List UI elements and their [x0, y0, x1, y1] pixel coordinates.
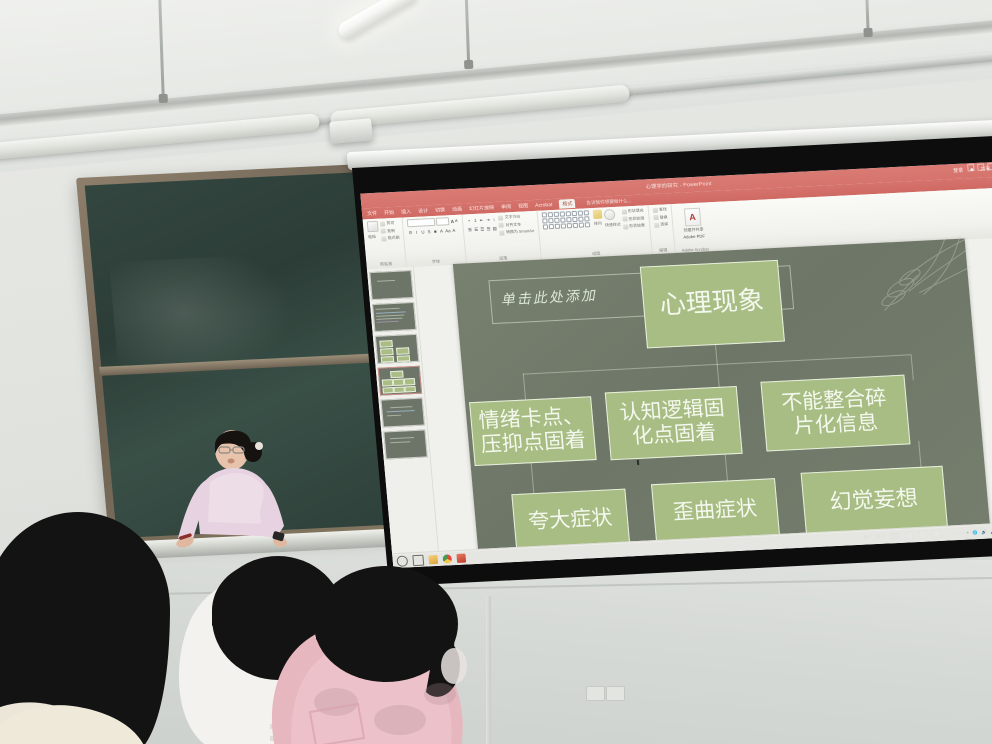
powerpoint-window: 心理学的研究 - PowerPoint 登录 ☻ 共享 文件 开始 — [360, 162, 992, 568]
align-center-icon[interactable]: ☰ — [473, 226, 479, 232]
shape-pentagon-icon — [560, 217, 566, 222]
create-share-pdf-button[interactable]: A 创建并共享 Adobe PDF — [676, 204, 711, 239]
tab-file[interactable]: 文件 — [367, 210, 378, 217]
connector-mid-down — [724, 451, 728, 485]
paste-label[interactable]: 粘贴 — [368, 233, 380, 240]
wall-socket — [606, 686, 625, 701]
shape-callout-icon — [555, 224, 561, 229]
placeholder-text: 单击此处添加 — [500, 285, 598, 310]
adobe-pdf-icon: A — [684, 208, 702, 227]
shape-outline-item[interactable]: 形状轮廓 — [622, 215, 645, 222]
classroom-photo: 心理学的研究 - PowerPoint 登录 ☻ 共享 文件 开始 — [0, 0, 992, 744]
shape-line-icon — [542, 212, 548, 217]
node-root-label: 心理现象 — [659, 287, 766, 321]
wall-socket — [586, 686, 605, 701]
smartart-item[interactable]: 转换为 SmartArt — [499, 228, 534, 236]
line-spacing-icon[interactable]: ↕ — [491, 216, 497, 222]
shape-moon-icon — [585, 222, 591, 227]
text-shadow-icon[interactable]: ■ — [433, 229, 438, 234]
tab-review[interactable]: 审阅 — [501, 203, 512, 210]
slide-thumbnail[interactable] — [383, 429, 427, 459]
decorative-branch-graphic — [848, 232, 976, 334]
mouse-cursor — [636, 460, 638, 465]
network-icon[interactable]: 🌐 — [972, 530, 977, 535]
align-text-item[interactable]: 对齐文本 — [499, 221, 534, 229]
arrange-label[interactable]: 排列 — [594, 220, 604, 226]
tab-home[interactable]: 开始 — [384, 209, 395, 216]
increase-indent-icon[interactable]: ⇥ — [485, 217, 491, 223]
acrobat-button-line1: 创建并共享 — [683, 227, 704, 234]
find-item[interactable]: 查找 — [652, 206, 667, 213]
node-bottom-3-label: 幻觉妄想 — [829, 487, 919, 516]
student-right — [240, 562, 500, 744]
quick-styles-icon[interactable] — [604, 209, 616, 221]
search-icon — [652, 207, 657, 212]
connector-vertical-root — [714, 343, 717, 365]
slide-thumbnail-current[interactable] — [378, 366, 422, 396]
underline-icon[interactable]: U — [420, 229, 425, 234]
student-front-left — [0, 690, 160, 744]
shape-brace-icon — [578, 217, 584, 222]
copy-icon — [380, 228, 385, 233]
window-title: 心理学的研究 - PowerPoint — [645, 180, 712, 190]
italic-icon[interactable]: I — [414, 230, 419, 235]
tab-format[interactable]: 格式 — [559, 199, 576, 209]
node-bottom-2-label: 歪曲症状 — [672, 497, 758, 525]
shape-curve-icon — [542, 218, 548, 223]
node-bottom-1-label: 夸大症状 — [527, 506, 613, 534]
justify-icon[interactable]: ☰ — [486, 226, 492, 232]
tab-transition[interactable]: 切换 — [435, 206, 446, 213]
char-spacing-icon[interactable]: A — [439, 228, 444, 233]
paragraph-row-1[interactable]: • 1 ⇤ ⇥ ↕ — [466, 216, 496, 223]
effects-icon — [623, 224, 628, 229]
node-mid-1[interactable]: 情绪卡点、压抑点固着 — [469, 396, 597, 466]
ribbon-group-clipboard[interactable]: 粘贴 剪切 复制 格式刷 剪贴板 — [363, 218, 408, 270]
shape-square-icon — [578, 211, 584, 216]
shape-heart-icon — [579, 222, 585, 227]
slide-thumbnail[interactable] — [381, 398, 425, 428]
slide-thumbnail[interactable] — [375, 334, 419, 364]
node-mid-3[interactable]: 不能整合碎片化信息 — [760, 375, 910, 452]
ribbon-group-paragraph[interactable]: • 1 ⇤ ⇥ ↕ ☰ ☰ ☰ ☰ — [462, 211, 542, 265]
numbering-icon[interactable]: 1 — [473, 217, 479, 223]
projector-unit — [329, 118, 373, 144]
tab-slideshow[interactable]: 幻灯片放映 — [469, 204, 495, 212]
change-case-icon[interactable]: Aa — [445, 228, 450, 233]
paragraph-row-2[interactable]: ☰ ☰ ☰ ☰ ▤ — [467, 225, 497, 232]
shape-diamond-icon — [566, 217, 572, 222]
tab-acrobat[interactable]: Acrobat — [535, 202, 553, 209]
shape-connector-icon — [554, 212, 560, 217]
node-mid-1-label: 情绪卡点、压抑点固着 — [478, 405, 587, 457]
arrange-icon[interactable] — [593, 210, 603, 219]
ribbon-group-font[interactable]: A A B I U S ■ A Aa — [403, 215, 467, 268]
shape-banner-icon — [561, 223, 567, 228]
columns-icon[interactable]: ▤ — [492, 225, 498, 231]
font-size-input[interactable] — [436, 217, 450, 226]
text-direction-icon — [498, 215, 503, 220]
shape-bracket-icon — [584, 216, 590, 221]
current-slide[interactable]: 单击此处添加 心理现象 情绪卡点、压抑点固着 认知逻辑固化点固着 — [452, 239, 989, 551]
ribbon-group-acrobat[interactable]: A 创建并共享 Adobe PDF Adobe Acrobat — [671, 202, 715, 254]
connector-branch-right — [910, 354, 913, 380]
fill-bucket-icon — [621, 209, 626, 214]
shape-cube-icon — [567, 223, 573, 228]
account-label[interactable]: 登录 — [953, 167, 964, 174]
node-mid-3-label: 不能整合碎片化信息 — [780, 387, 889, 439]
system-tray[interactable]: ^ 🌐 🔊 🎤 中 16:29 2025/5/15 ☐ — [966, 526, 992, 538]
projection-screen: 心理学的研究 - PowerPoint 登录 ☻ 共享 文件 开始 — [352, 136, 992, 587]
grow-font-icon[interactable]: A — [451, 218, 455, 223]
bullets-icon[interactable]: • — [466, 218, 472, 224]
shape-free-icon — [548, 218, 554, 223]
tab-insert[interactable]: 插入 — [401, 208, 412, 215]
slide-thumbnail[interactable] — [369, 270, 413, 300]
shape-plus-icon — [549, 224, 555, 229]
shape-cylinder-icon — [573, 223, 579, 228]
editor-body: 单击此处添加 心理现象 情绪卡点、压抑点固着 认知逻辑固化点固着 — [367, 238, 992, 555]
show-hidden-icons[interactable]: ^ — [967, 531, 969, 536]
font-color-icon[interactable]: A — [451, 228, 456, 233]
shape-scribble-icon — [554, 218, 560, 223]
window-controls[interactable] — [967, 163, 992, 171]
shape-effects-item[interactable]: 形状效果 — [623, 222, 646, 229]
shape-gallery[interactable] — [542, 210, 591, 229]
node-mid-2[interactable]: 认知逻辑固化点固着 — [604, 386, 742, 460]
align-left-icon[interactable]: ☰ — [467, 227, 473, 233]
tab-view[interactable]: 视图 — [518, 202, 529, 209]
close-icon[interactable] — [987, 163, 992, 170]
strikethrough-icon[interactable]: S — [426, 229, 431, 234]
maximize-icon[interactable] — [977, 164, 985, 171]
format-painter-item[interactable]: 格式刷 — [381, 235, 400, 242]
slide-thumbnail[interactable] — [372, 302, 416, 332]
font-style-row[interactable]: B I U S ■ A Aa A — [408, 228, 459, 235]
shape-rounded-icon — [566, 211, 572, 216]
copy-item[interactable]: 复制 — [380, 227, 399, 234]
bold-icon[interactable]: B — [408, 230, 413, 235]
shape-star-icon — [572, 217, 578, 222]
outline-pen-icon — [622, 216, 627, 221]
tab-design[interactable]: 设计 — [418, 207, 429, 214]
shape-arc-icon — [543, 224, 549, 229]
node-mid-2-label: 认知逻辑固化点固着 — [619, 397, 728, 449]
shape-arrow-icon — [548, 212, 554, 217]
tab-animation[interactable]: 动画 — [452, 206, 463, 213]
shrink-font-icon[interactable]: A — [455, 219, 458, 223]
align-text-icon — [499, 222, 504, 227]
connector-branch-left — [522, 374, 525, 400]
paste-icon[interactable] — [367, 221, 379, 233]
select-item[interactable]: 选择 — [654, 221, 669, 228]
connector-left-down — [530, 460, 534, 494]
select-cursor-icon — [654, 222, 659, 227]
smartart-icon — [499, 230, 504, 235]
scissors-icon — [380, 221, 385, 226]
ribbon-group-drawing[interactable]: 排列 快速样式 形状填充 形状轮廓 形状效果 — [537, 205, 652, 260]
shape-oval-icon — [572, 211, 578, 216]
shape-fill-item[interactable]: 形状填充 — [621, 208, 644, 215]
font-name-input[interactable] — [407, 218, 436, 227]
replace-item[interactable]: 替换 — [653, 214, 668, 221]
brush-icon — [381, 236, 386, 241]
shape-triangle-icon — [583, 210, 589, 215]
tell-me-box[interactable]: 告诉我你想要做什么... — [586, 198, 632, 206]
slide-canvas[interactable]: 单击此处添加 心理现象 情绪卡点、压抑点固着 认知逻辑固化点固着 — [414, 238, 992, 552]
cut-item[interactable]: 剪切 — [380, 220, 399, 227]
align-right-icon[interactable]: ☰ — [480, 226, 486, 232]
quick-styles-label[interactable]: 快速样式 — [605, 221, 621, 228]
minimize-icon[interactable] — [967, 164, 975, 171]
text-direction-item[interactable]: 文字方向 — [498, 213, 533, 221]
volume-icon[interactable]: 🔊 — [981, 530, 986, 535]
replace-icon — [653, 215, 658, 220]
node-root[interactable]: 心理现象 — [639, 260, 784, 349]
acrobat-button-line2: Adobe PDF — [683, 233, 705, 239]
decrease-indent-icon[interactable]: ⇤ — [479, 217, 485, 223]
shape-rect-icon — [560, 211, 566, 216]
projected-image: 心理学的研究 - PowerPoint 登录 ☻ 共享 文件 开始 — [360, 162, 992, 568]
